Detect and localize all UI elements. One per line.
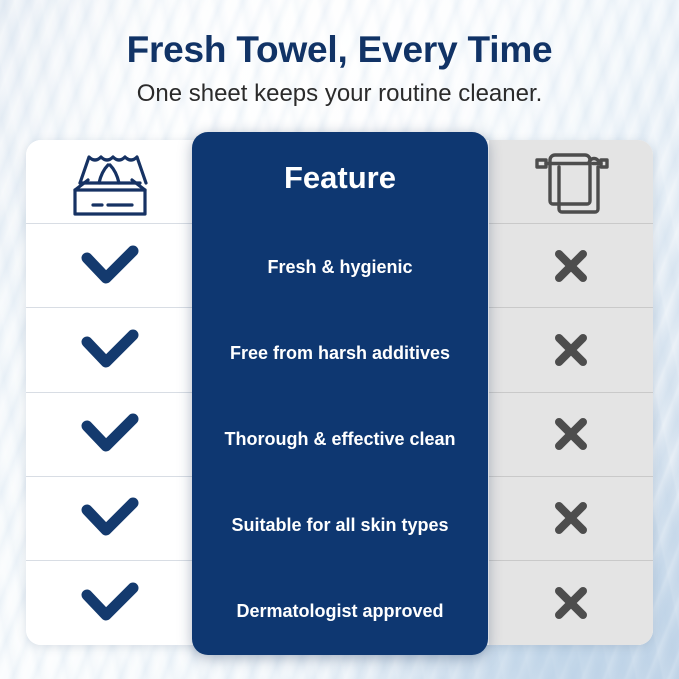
cross-icon — [549, 244, 593, 288]
feature-label: Suitable for all skin types — [192, 483, 488, 569]
towel-cell-cross — [489, 308, 653, 392]
cross-icon — [549, 581, 593, 625]
towel-rack-icon — [523, 143, 619, 221]
check-icon — [79, 412, 141, 456]
check-icon — [79, 328, 141, 372]
product-cell-check — [26, 477, 193, 561]
feature-label: Thorough & effective clean — [192, 396, 488, 482]
feature-label: Free from harsh additives — [192, 310, 488, 396]
product-cell-check — [26, 561, 193, 645]
feature-label: Dermatologist approved — [192, 569, 488, 655]
feature-label: Fresh & hygienic — [192, 224, 488, 310]
heading-block: Fresh Towel, Every Time One sheet keeps … — [0, 30, 679, 108]
product-cell-check — [26, 308, 193, 392]
page-subtitle: One sheet keeps your routine cleaner. — [0, 80, 679, 109]
product-cell-check — [26, 393, 193, 477]
towel-cell-cross — [489, 224, 653, 308]
check-icon — [79, 244, 141, 288]
product-cell-check — [26, 224, 193, 308]
column-towel — [489, 140, 653, 645]
check-icon — [79, 581, 141, 625]
column-towel-header — [489, 140, 653, 224]
cross-icon — [549, 328, 593, 372]
column-feature: Feature Fresh & hygienic Free from harsh… — [192, 132, 488, 655]
towel-cell-cross — [489, 477, 653, 561]
check-icon — [79, 496, 141, 540]
cross-icon — [549, 496, 593, 540]
infographic-canvas: Fresh Towel, Every Time One sheet keeps … — [0, 0, 679, 679]
feature-row-list: Fresh & hygienic Free from harsh additiv… — [192, 224, 488, 655]
feature-column-header: Feature — [192, 132, 488, 224]
column-product-header — [26, 140, 193, 224]
page-title: Fresh Towel, Every Time — [0, 30, 679, 71]
towel-cell-cross — [489, 561, 653, 645]
tissue-box-icon — [58, 142, 162, 222]
cross-icon — [549, 412, 593, 456]
towel-cell-cross — [489, 393, 653, 477]
column-product — [26, 140, 193, 645]
